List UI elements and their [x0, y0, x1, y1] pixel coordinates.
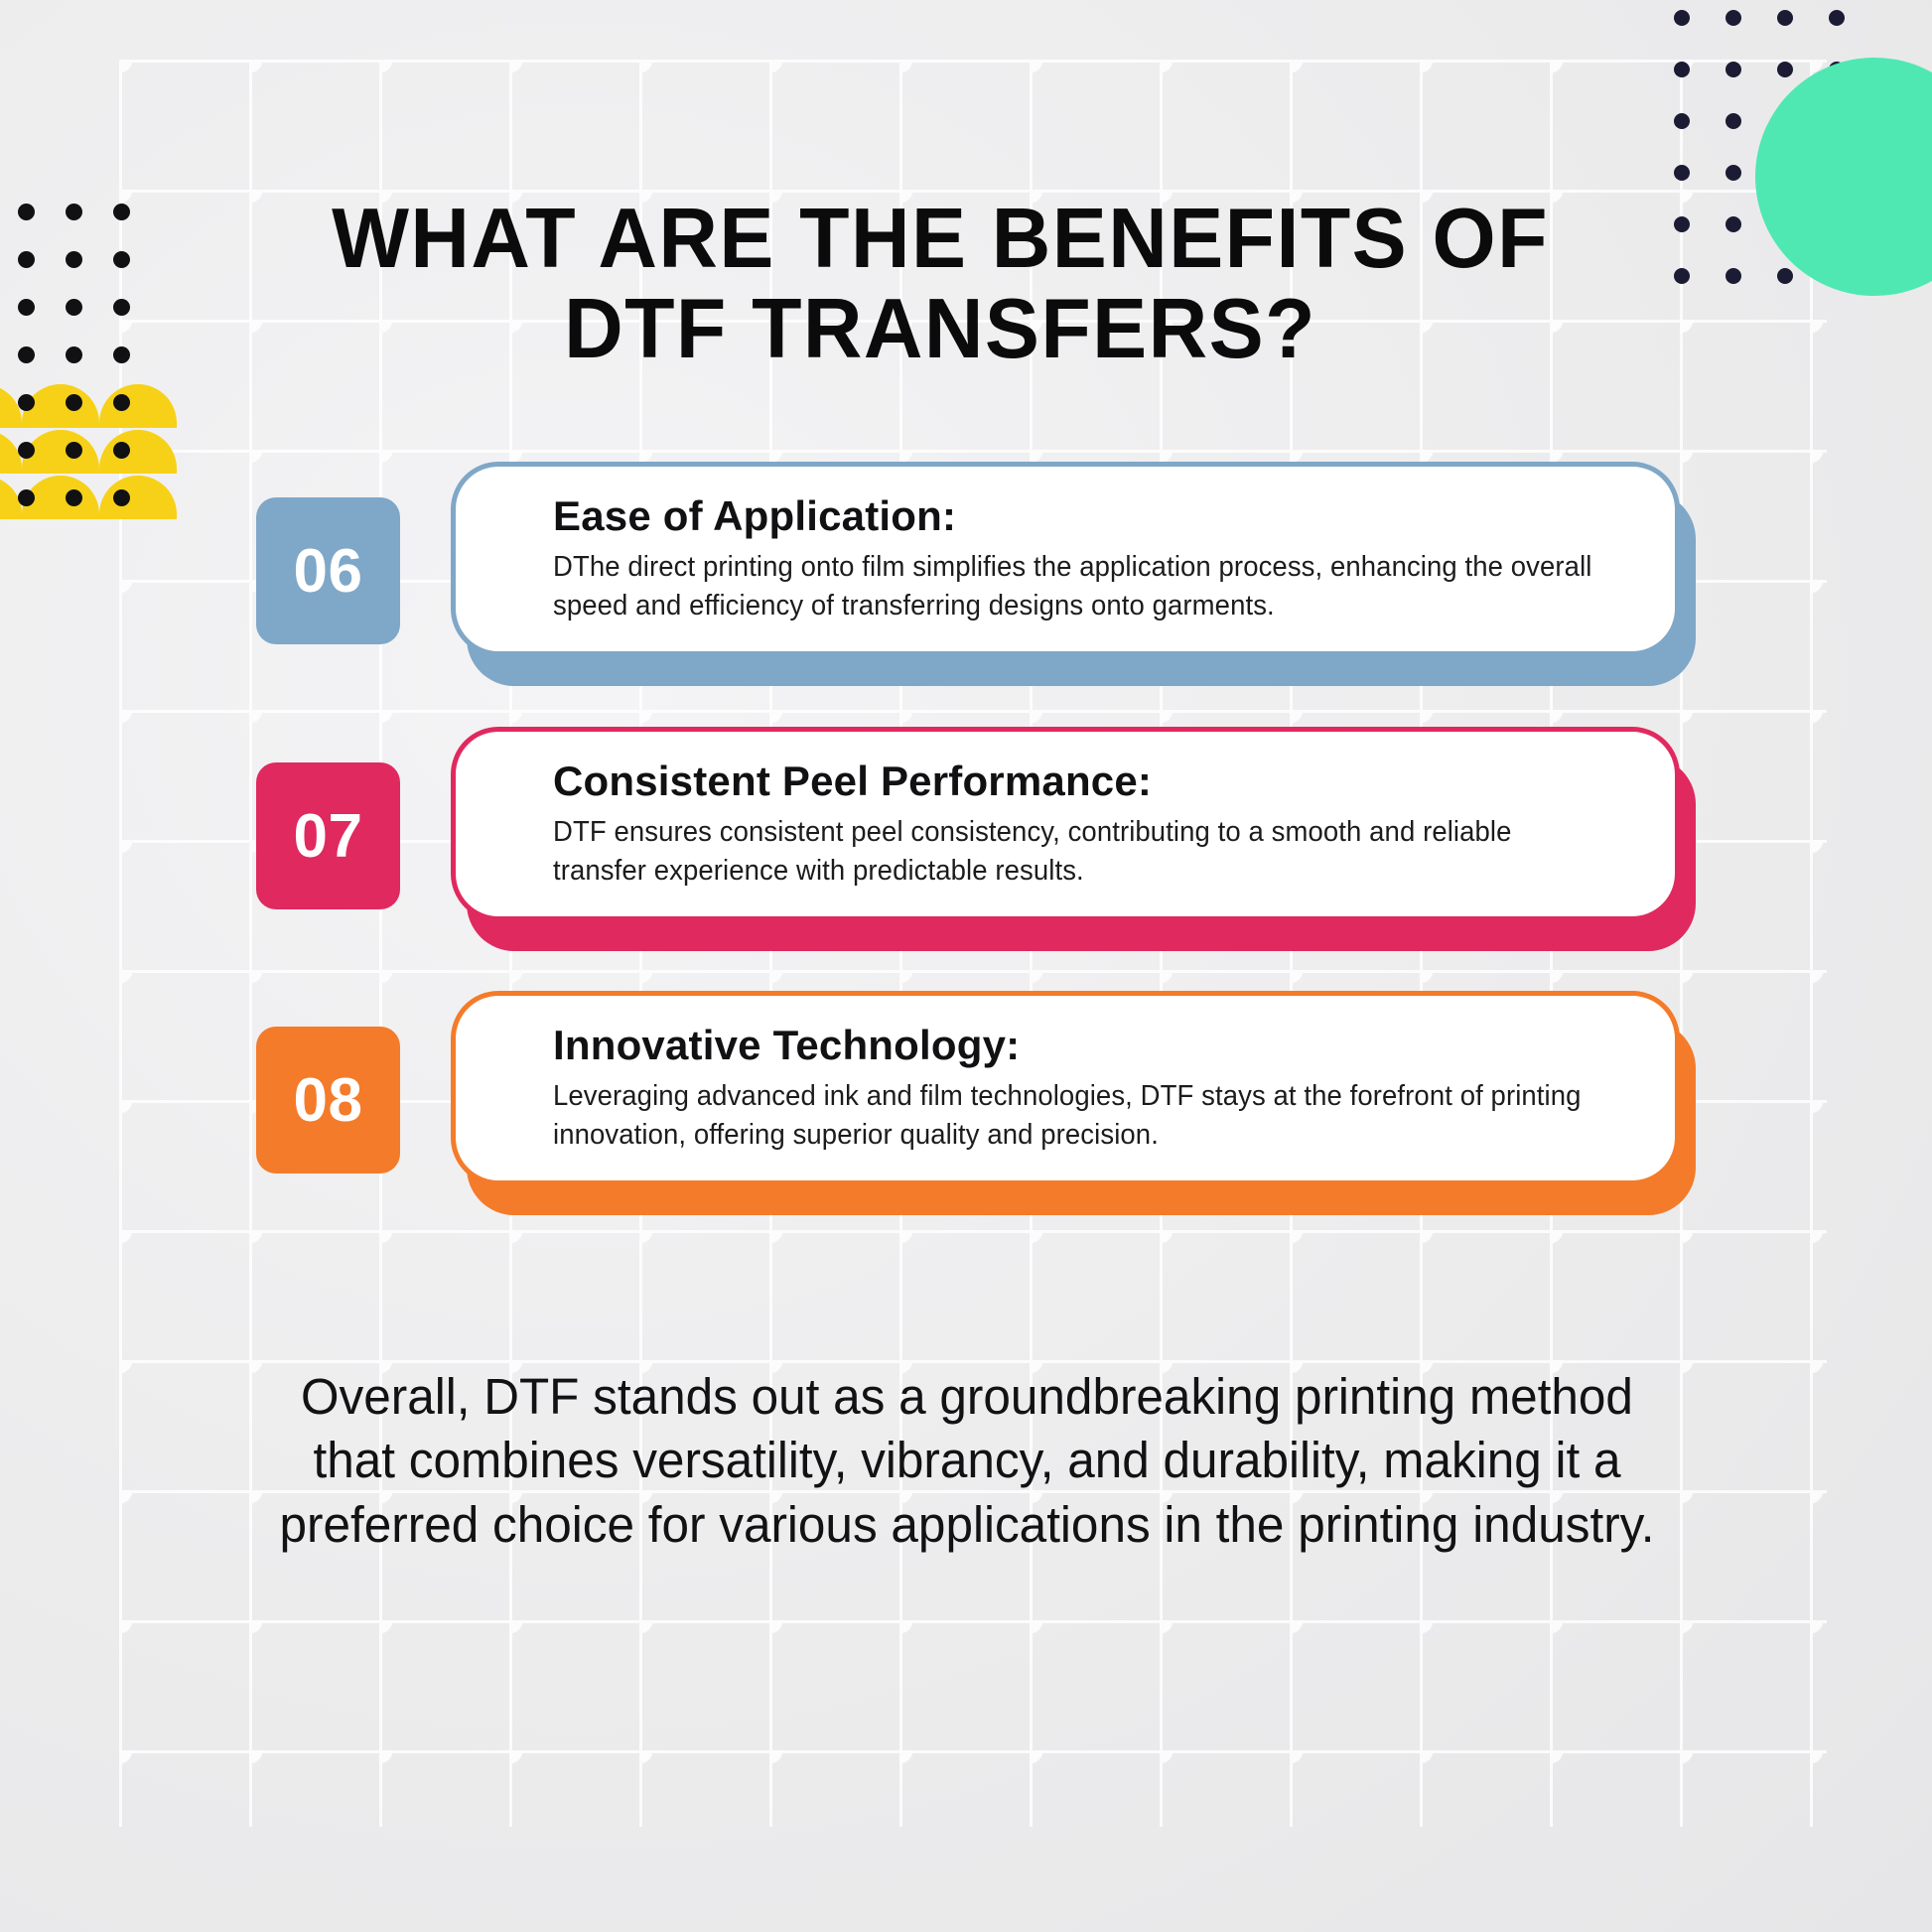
- decorative-dot: [113, 251, 130, 268]
- decorative-dot: [113, 489, 130, 506]
- decorative-dot: [1829, 10, 1845, 26]
- infographic-poster: WHAT ARE THE BENEFITS OF DTF TRANSFERS? …: [0, 0, 1932, 1932]
- yellow-arch-decoration: [0, 382, 175, 521]
- yellow-arch: [22, 384, 99, 428]
- card-panel: Consistent Peel Performance: DTF ensures…: [451, 727, 1680, 921]
- decorative-dot: [1777, 62, 1793, 77]
- decorative-dot: [1829, 165, 1845, 181]
- decorative-dot: [66, 442, 82, 459]
- decorative-dot: [66, 346, 82, 363]
- decorative-dot: [1674, 268, 1690, 284]
- decorative-dot: [66, 299, 82, 316]
- arch-row: [0, 382, 175, 428]
- decorative-dot: [1674, 216, 1690, 232]
- decorative-dot: [1777, 10, 1793, 26]
- decorative-dot: [1829, 268, 1845, 284]
- arch-row: [0, 474, 175, 519]
- right-dot-grid-decoration: [1674, 10, 1912, 298]
- decorative-dot: [18, 204, 35, 220]
- yellow-arch: [22, 476, 99, 519]
- decorative-dot: [66, 489, 82, 506]
- decorative-dot: [1829, 113, 1845, 129]
- decorative-dot: [1777, 268, 1793, 284]
- decorative-dot: [1725, 268, 1741, 284]
- card-body-text: Leveraging advanced ink and film technol…: [553, 1077, 1593, 1155]
- decorative-dot: [18, 442, 35, 459]
- yellow-arch: [0, 476, 22, 519]
- decorative-dot: [1725, 10, 1741, 26]
- yellow-arch: [22, 430, 99, 474]
- decorative-dot: [18, 394, 35, 411]
- decorative-dot: [113, 346, 130, 363]
- card-heading: Ease of Application:: [553, 492, 1631, 539]
- card-panel: Ease of Application: DThe direct printin…: [451, 462, 1680, 656]
- decorative-dot: [66, 204, 82, 220]
- card-number-badge: 08: [256, 1027, 400, 1173]
- yellow-arch: [99, 476, 177, 519]
- yellow-arch: [0, 384, 22, 428]
- decorative-dot: [1725, 216, 1741, 232]
- decorative-dot: [1777, 216, 1793, 232]
- yellow-arch: [0, 430, 22, 474]
- decorative-dot: [66, 251, 82, 268]
- decorative-dot: [1674, 62, 1690, 77]
- yellow-arch: [99, 384, 177, 428]
- decorative-dot: [1829, 216, 1845, 232]
- benefit-card-06: 06 Ease of Application: DThe direct prin…: [256, 462, 1696, 675]
- decorative-dot: [113, 204, 130, 220]
- decorative-dot: [1674, 165, 1690, 181]
- page-title: WHAT ARE THE BENEFITS OF DTF TRANSFERS?: [251, 195, 1628, 375]
- decorative-dot: [1725, 113, 1741, 129]
- decorative-dot: [113, 299, 130, 316]
- card-number-badge: 06: [256, 497, 400, 644]
- decorative-dot: [1777, 165, 1793, 181]
- card-heading: Consistent Peel Performance:: [553, 758, 1631, 804]
- decorative-dot: [113, 442, 130, 459]
- decorative-dot: [18, 489, 35, 506]
- decorative-dot: [66, 394, 82, 411]
- card-heading: Innovative Technology:: [553, 1022, 1631, 1068]
- decorative-dot: [18, 251, 35, 268]
- decorative-dot: [1725, 165, 1741, 181]
- summary-paragraph: Overall, DTF stands out as a groundbreak…: [277, 1365, 1656, 1557]
- mint-circle-decoration: [1755, 58, 1932, 296]
- card-body-text: DThe direct printing onto film simplifie…: [553, 548, 1593, 625]
- decorative-dot: [113, 394, 130, 411]
- decorative-dot: [1725, 62, 1741, 77]
- decorative-dot: [1674, 10, 1690, 26]
- left-dot-grid-decoration: [18, 204, 216, 541]
- card-number-badge: 07: [256, 762, 400, 909]
- decorative-dot: [18, 299, 35, 316]
- decorative-dot: [18, 346, 35, 363]
- card-body-text: DTF ensures consistent peel consistency,…: [553, 813, 1593, 891]
- benefit-card-07: 07 Consistent Peel Performance: DTF ensu…: [256, 727, 1696, 940]
- decorative-dot: [1674, 113, 1690, 129]
- benefit-card-08: 08 Innovative Technology: Leveraging adv…: [256, 991, 1696, 1204]
- arch-row: [0, 428, 175, 474]
- yellow-arch: [99, 430, 177, 474]
- decorative-dot: [1777, 113, 1793, 129]
- decorative-dot: [1829, 62, 1845, 77]
- card-panel: Innovative Technology: Leveraging advanc…: [451, 991, 1680, 1185]
